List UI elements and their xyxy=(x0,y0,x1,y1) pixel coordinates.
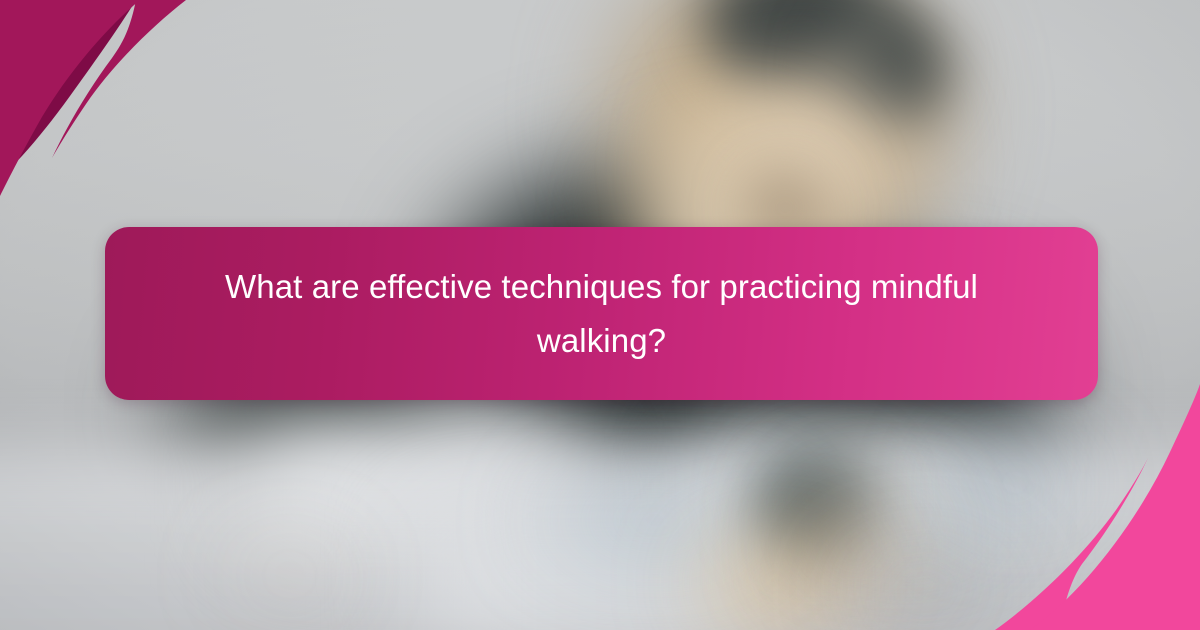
social-share-card: What are effective techniques for practi… xyxy=(0,0,1200,630)
question-text: What are effective techniques for practi… xyxy=(217,260,987,367)
question-banner: What are effective techniques for practi… xyxy=(105,227,1098,400)
